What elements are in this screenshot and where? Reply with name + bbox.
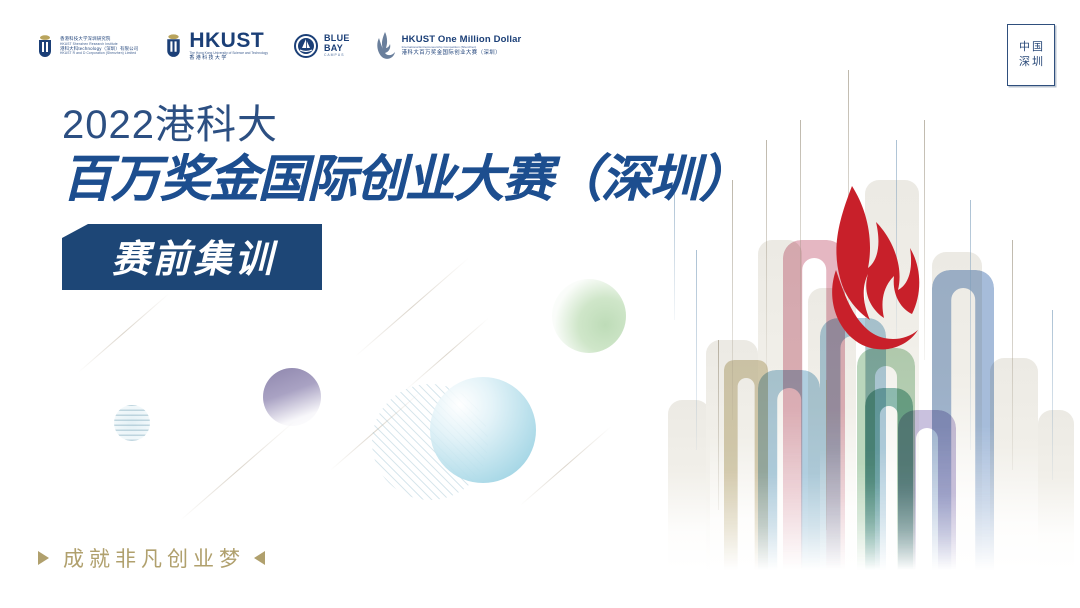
logo-cn-line: 香港科技大学深圳研究院	[60, 36, 138, 42]
triangle-right-icon	[38, 551, 49, 565]
background-tower	[808, 288, 856, 570]
background-tower	[706, 340, 758, 570]
city-arch-blue-right	[932, 270, 994, 570]
partner-logos: 香港科技大学深圳研究院 HKUST Shenzhen Research Inst…	[36, 30, 521, 61]
city-arch-green	[857, 348, 915, 570]
diagonal-line	[330, 391, 421, 470]
striped-circle	[114, 405, 150, 441]
year-line: 2022港科大	[62, 104, 748, 146]
red-flame-icon	[818, 182, 926, 354]
city-arch-tan	[724, 360, 768, 570]
city-arch-blue-left	[758, 370, 820, 570]
antenna-line	[1052, 310, 1053, 480]
hkust-wordmark: HKUST	[189, 30, 268, 51]
background-tower	[932, 252, 982, 570]
logo-en-line-2: HKUST R and D Corporation (Shenzhen) Lim…	[60, 51, 138, 56]
hatched-circle	[372, 384, 488, 500]
city-badge: 中国 深圳	[1007, 24, 1055, 86]
antenna-line	[1012, 240, 1013, 470]
antenna-line	[800, 120, 801, 340]
green-gradient-circle	[552, 279, 626, 353]
antenna-line	[848, 70, 849, 320]
background-tower	[865, 180, 919, 570]
diagonal-line	[78, 293, 169, 372]
background-tower	[668, 400, 710, 570]
antenna-line	[924, 120, 925, 360]
omd-cn-subtitle: 港科大百万奖金国际创业大赛（深圳）	[402, 50, 522, 57]
tagline-text: 成就非凡创业梦	[58, 543, 245, 573]
antenna-line	[826, 380, 827, 530]
hkust-shield-icon	[36, 33, 54, 59]
diagonal-line	[520, 426, 611, 505]
logo-hkust-one-million-dollar: HKUST One Million Dollar International E…	[376, 31, 522, 61]
purple-gradient-circle	[263, 368, 321, 426]
logo-hkust-shenzhen-research-institute: 香港科技大学深圳研究院 HKUST Shenzhen Research Inst…	[36, 33, 138, 59]
city-arch-pink	[783, 240, 845, 570]
antenna-line	[766, 140, 767, 370]
cyan-gradient-circle	[430, 377, 536, 483]
antenna-line	[970, 200, 971, 450]
hkust-cn-subtitle: 香港科技大学	[189, 55, 268, 61]
page-title: 百万奖金国际创业大赛（深圳）	[62, 152, 748, 206]
bluebay-word-line2: BAY	[324, 44, 350, 53]
logo-en-line: HKUST Shenzhen Research Institute	[60, 41, 138, 46]
triangle-left-icon	[254, 551, 265, 565]
city-arch-teal	[865, 388, 913, 570]
diagonal-line	[405, 318, 489, 391]
city-badge-line1: 中国	[1017, 41, 1045, 54]
background-tower	[1038, 410, 1074, 570]
training-ribbon: 赛前集训	[62, 224, 322, 290]
poster-canvas: 香港科技大学深圳研究院 HKUST Shenzhen Research Inst…	[0, 0, 1080, 608]
logo-hkust: HKUST The Hong Kong University of Scienc…	[164, 30, 268, 61]
flame-mark-icon	[376, 31, 396, 61]
diagonal-line	[180, 422, 294, 521]
ribbon-label: 赛前集训	[108, 241, 275, 279]
tagline: 成就非凡创业梦	[38, 543, 265, 573]
antenna-line	[896, 140, 897, 340]
hkust-shield-icon	[164, 32, 183, 59]
city-badge-line2: 深圳	[1017, 56, 1045, 69]
antenna-line	[718, 340, 719, 510]
city-arch-purple	[898, 410, 956, 570]
blue-bay-circle-icon	[294, 34, 318, 58]
background-tower	[990, 358, 1038, 570]
city-arch-blue-center	[820, 318, 886, 570]
background-decoration	[0, 0, 1080, 608]
background-tower	[758, 240, 802, 570]
headline-block: 2022港科大 百万奖金国际创业大赛（深圳） 赛前集训	[62, 104, 748, 290]
bluebay-subtitle: CAMPUS	[324, 53, 350, 57]
logo-blue-bay: BLUE BAY CAMPUS	[294, 34, 350, 58]
